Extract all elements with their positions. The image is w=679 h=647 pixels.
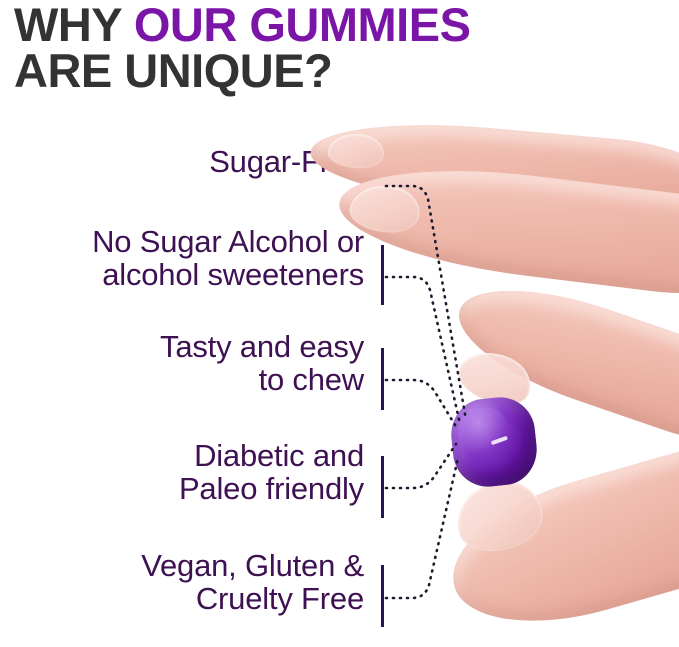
benefit-line: Tasty and easy [0, 331, 364, 364]
benefit-line: Diabetic and [0, 440, 364, 473]
tick-bar-tasty-easy-chew [381, 348, 384, 410]
headline-line-2: ARE UNIQUE? [14, 48, 654, 94]
tick-bar-no-sugar-alcohol [381, 245, 384, 305]
benefit-item-vegan-gluten-cruelty-free: Vegan, Gluten & Cruelty Free [0, 550, 372, 616]
benefit-line: Sugar-Free [0, 146, 364, 179]
benefit-line: alcohol sweeteners [0, 259, 364, 292]
headline-line-1: WHY OUR GUMMIES [14, 2, 654, 48]
benefit-line: Cruelty Free [0, 583, 364, 616]
product-infographic: WHY OUR GUMMIES ARE UNIQUE? Sugar-Free N… [0, 0, 679, 647]
tick-bar-diabetic-paleo [381, 456, 384, 518]
benefit-item-tasty-easy-chew: Tasty and easy to chew [0, 331, 372, 397]
hand-holding-gummy-photo [400, 120, 679, 647]
benefit-item-diabetic-paleo: Diabetic and Paleo friendly [0, 440, 372, 506]
benefit-item-no-sugar-alcohol: No Sugar Alcohol or alcohol sweeteners [0, 226, 372, 292]
page-title: WHY OUR GUMMIES ARE UNIQUE? [14, 2, 654, 94]
benefit-line: Vegan, Gluten & [0, 550, 364, 583]
benefit-line: to chew [0, 364, 364, 397]
benefit-line: No Sugar Alcohol or [0, 226, 364, 259]
benefit-line: Paleo friendly [0, 473, 364, 506]
tick-bar-vegan-gluten-cruelty-free [381, 565, 384, 627]
